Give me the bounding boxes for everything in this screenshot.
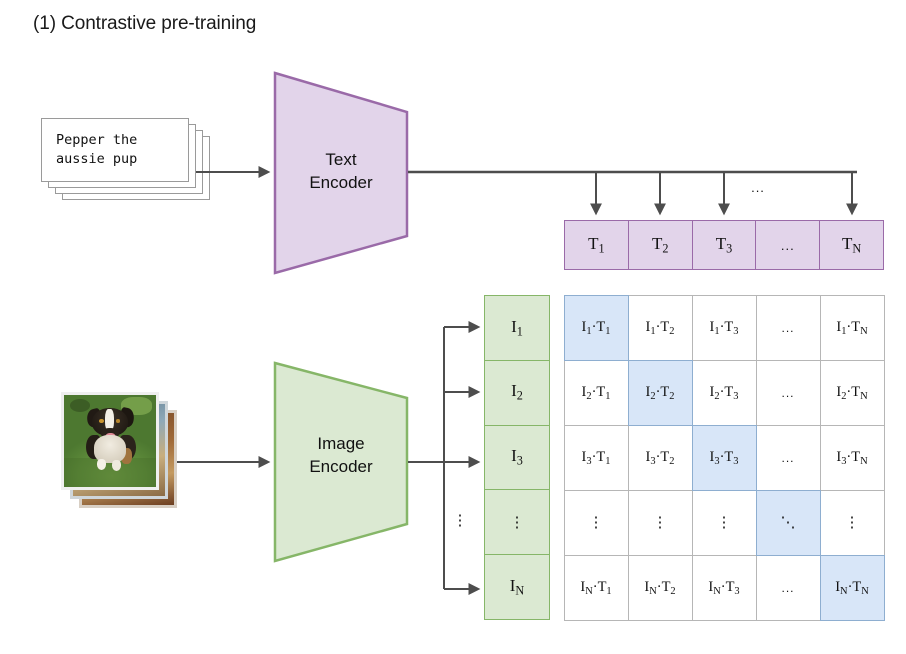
similarity-cell-r5c4[interactable]: ...: [756, 555, 821, 621]
photo-stack-front-puppy: [61, 392, 159, 490]
text-embeddings-row: T1 T2 T3 ... TN: [564, 220, 884, 270]
similarity-cell-r3c4[interactable]: ...: [756, 425, 821, 491]
cell-label: ...: [781, 321, 794, 335]
cell-label: ⋮: [510, 513, 525, 532]
similarity-cell-r5c5[interactable]: IN·TN: [820, 555, 885, 621]
image-embedding-cell-ellipsis: ⋮: [484, 489, 550, 555]
puppy-eye-right: [116, 419, 121, 423]
image-embedding-cell[interactable]: I2: [484, 360, 550, 426]
cell-label: IN·T3: [708, 579, 739, 597]
cell-label: I1·T2: [646, 319, 675, 337]
similarity-cell-r3c1[interactable]: I3·T1: [564, 425, 629, 491]
similarity-cell-r3c5[interactable]: I3·TN: [820, 425, 885, 491]
cell-label: ⋱: [781, 513, 796, 532]
similarity-cell-r2c4[interactable]: ...: [756, 360, 821, 426]
text-embedding-cell[interactable]: T3: [692, 220, 757, 270]
cell-label: T3: [716, 234, 733, 256]
cell-label: IN·TN: [835, 579, 869, 597]
cell-label: ⋮: [589, 513, 604, 532]
text-embedding-cell[interactable]: TN: [819, 220, 884, 270]
cell-label: I2·T2: [646, 384, 675, 402]
puppy-photo: [64, 395, 156, 487]
cell-label: ⋮: [845, 513, 860, 532]
similarity-cell-r5c2[interactable]: IN·T2: [628, 555, 693, 621]
photo-shadow-patch: [70, 399, 90, 412]
similarity-cell-r4c1[interactable]: ⋮: [564, 490, 629, 556]
similarity-cell-r4c5[interactable]: ⋮: [820, 490, 885, 556]
image-rows-ellipsis: ⋮: [452, 508, 468, 532]
text-card-front: Pepper the aussie pup: [41, 118, 189, 182]
similarity-cell-r2c3[interactable]: I2·T3: [692, 360, 757, 426]
similarity-cell-r5c1[interactable]: IN·T1: [564, 555, 629, 621]
cell-label: I2·T3: [710, 384, 739, 402]
similarity-cell-r1c5[interactable]: I1·TN: [820, 295, 885, 361]
cell-label: I1·T1: [582, 319, 611, 337]
similarity-matrix: I1·T1I1·T2I1·T3...I1·TNI2·T1I2·T2I2·T3..…: [564, 295, 884, 620]
image-embeddings-column: I1 I2 I3 ⋮ IN: [484, 295, 550, 620]
similarity-cell-r2c5[interactable]: I2·TN: [820, 360, 885, 426]
cell-label: T1: [588, 234, 605, 256]
cell-label: IN·T1: [580, 579, 611, 597]
puppy-eye-left: [99, 419, 104, 423]
image-embedding-cell[interactable]: IN: [484, 554, 550, 620]
cell-label: TN: [842, 234, 861, 256]
similarity-cell-r3c3[interactable]: I3·T3: [692, 425, 757, 491]
similarity-cell-r5c3[interactable]: IN·T3: [692, 555, 757, 621]
cell-label: I2: [511, 381, 523, 403]
cell-label: I3·TN: [836, 449, 867, 467]
cell-label: ...: [781, 581, 794, 595]
similarity-cell-r1c4[interactable]: ...: [756, 295, 821, 361]
image-embedding-cell[interactable]: I1: [484, 295, 550, 361]
image-embedding-cell[interactable]: I3: [484, 425, 550, 491]
text-bus-ellipsis: ...: [738, 180, 778, 196]
cell-label: I1·T3: [710, 319, 739, 337]
cell-label: T2: [652, 234, 669, 256]
cell-label: I2·T1: [582, 384, 611, 402]
similarity-cell-r1c2[interactable]: I1·T2: [628, 295, 693, 361]
cell-label: I3: [511, 446, 523, 468]
cell-label: I3·T1: [582, 449, 611, 467]
similarity-cell-r2c2[interactable]: I2·T2: [628, 360, 693, 426]
similarity-cell-r2c1[interactable]: I2·T1: [564, 360, 629, 426]
cell-label: I3·T2: [646, 449, 675, 467]
similarity-cell-r4c3[interactable]: ⋮: [692, 490, 757, 556]
cell-label: IN·T2: [644, 579, 675, 597]
similarity-cell-r4c4[interactable]: ⋱: [756, 490, 821, 556]
text-embedding-cell[interactable]: T1: [564, 220, 629, 270]
similarity-cell-r1c1[interactable]: I1·T1: [564, 295, 629, 361]
text-card-caption: Pepper the aussie pup: [56, 131, 137, 169]
similarity-cell-r3c2[interactable]: I3·T2: [628, 425, 693, 491]
cell-label: ...: [781, 386, 794, 400]
cell-label: I1·TN: [836, 319, 867, 337]
cell-label: I1: [511, 317, 523, 339]
text-embedding-cell[interactable]: T2: [628, 220, 693, 270]
cell-label: ⋮: [653, 513, 668, 532]
cell-label: I3·T3: [710, 449, 739, 467]
cell-label: ...: [781, 451, 794, 465]
cell-label: ⋮: [717, 513, 732, 532]
similarity-cell-r1c3[interactable]: I1·T3: [692, 295, 757, 361]
text-embedding-cell-ellipsis: ...: [755, 220, 820, 270]
cell-label: IN: [510, 576, 525, 598]
figure-canvas: (1) Contrastive pre-training Pepper the …: [0, 0, 906, 654]
similarity-cell-r4c2[interactable]: ⋮: [628, 490, 693, 556]
cell-label: ...: [781, 238, 795, 253]
cell-label: I2·TN: [836, 384, 867, 402]
